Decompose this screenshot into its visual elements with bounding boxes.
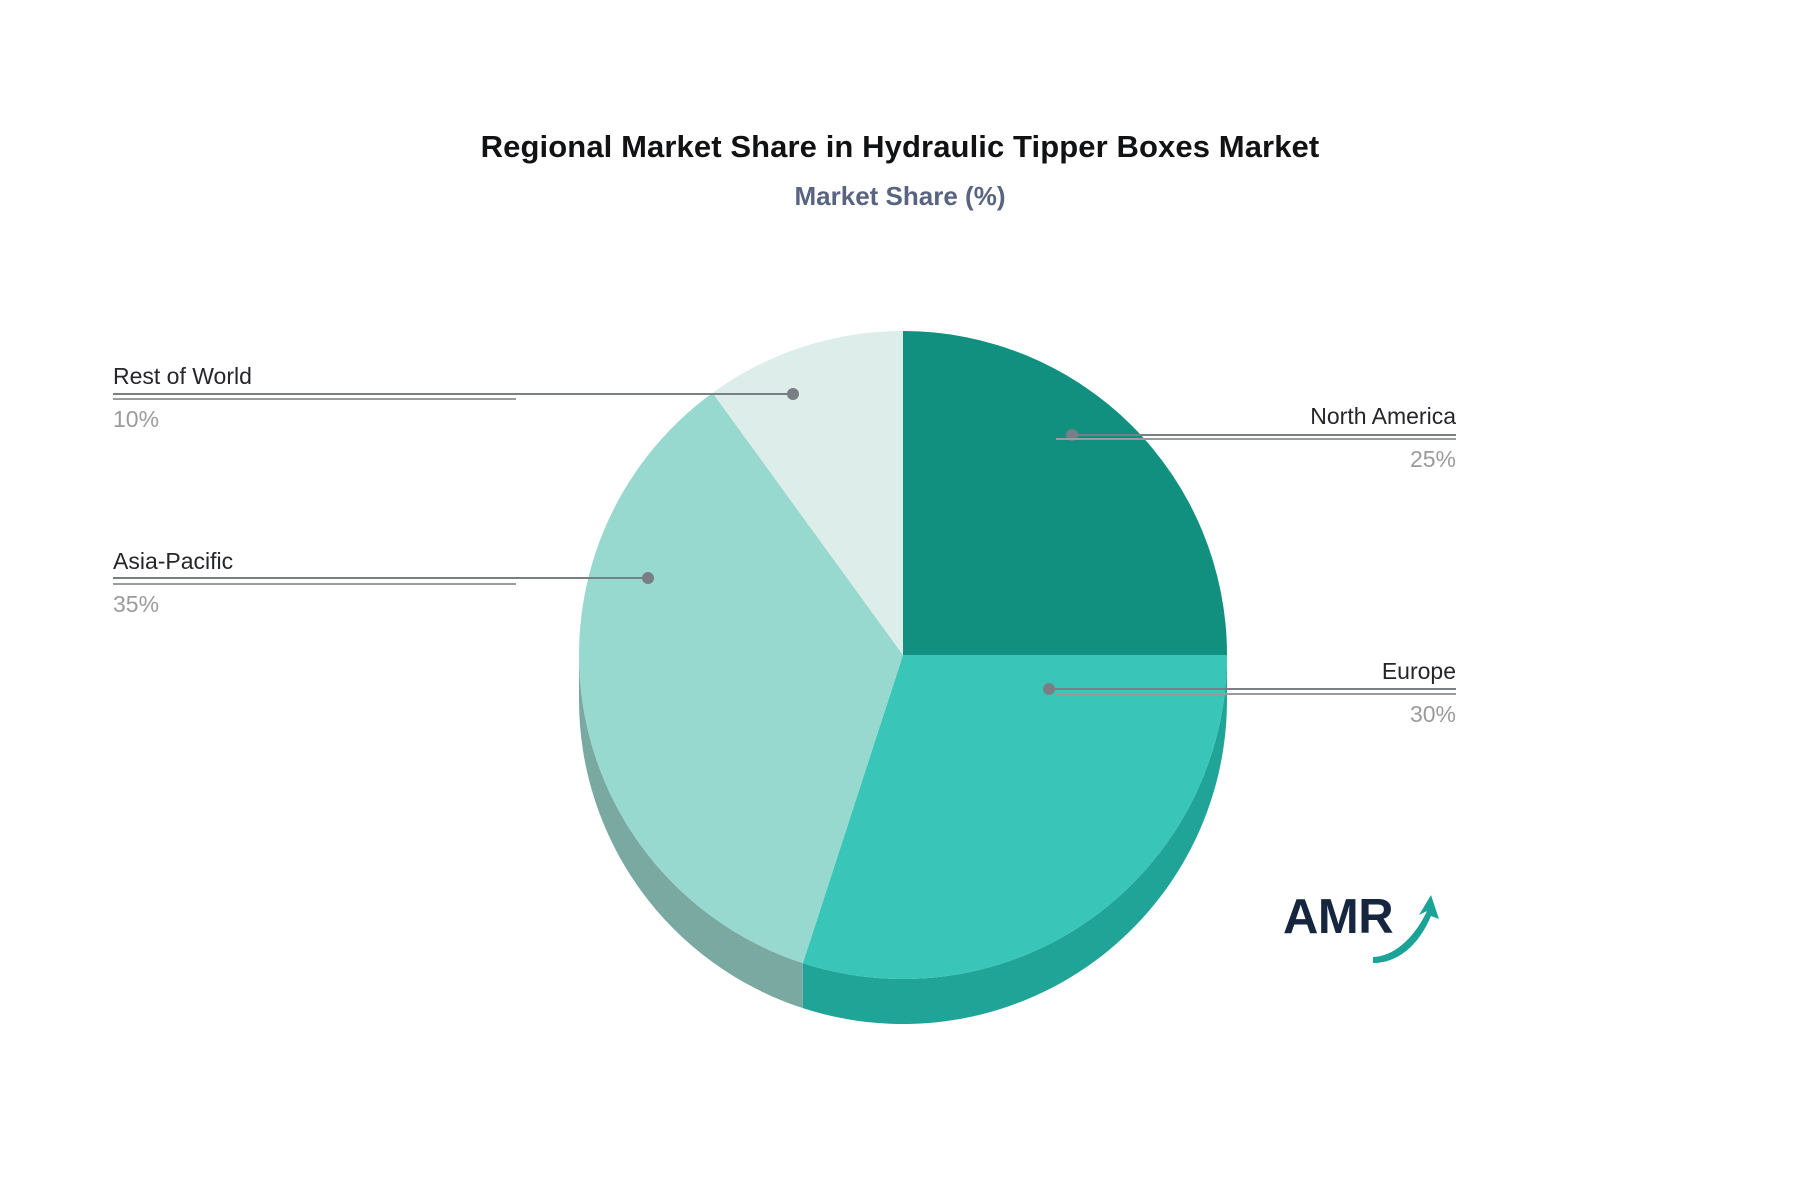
callout-rule-rest-of-world xyxy=(113,398,516,400)
amr-logo: AMR xyxy=(1283,893,1443,963)
callout-label-north-america: North America xyxy=(1056,402,1456,431)
callout-value-north-america: 25% xyxy=(1056,445,1456,474)
pie-slice-north-america[interactable] xyxy=(903,331,1227,655)
growth-arrow-icon xyxy=(1369,891,1445,963)
callout-north-america[interactable]: North America 25% xyxy=(1056,402,1456,474)
callout-label-europe: Europe xyxy=(1056,657,1456,686)
callout-label-rest-of-world: Rest of World xyxy=(113,362,516,391)
leader-dot-europe xyxy=(1043,683,1055,695)
leader-dot-rest-of-world xyxy=(787,388,799,400)
callout-rest-of-world[interactable]: Rest of World 10% xyxy=(113,362,516,434)
callout-label-asia-pacific: Asia-Pacific xyxy=(113,547,516,576)
callout-asia-pacific[interactable]: Asia-Pacific 35% xyxy=(113,547,516,619)
callout-rule-north-america xyxy=(1056,438,1456,440)
callout-europe[interactable]: Europe 30% xyxy=(1056,657,1456,729)
callout-rule-europe xyxy=(1056,693,1456,695)
leader-dot-asia-pacific xyxy=(642,572,654,584)
callout-rule-asia-pacific xyxy=(113,583,516,585)
callout-value-europe: 30% xyxy=(1056,700,1456,729)
callout-value-asia-pacific: 35% xyxy=(113,590,516,619)
callout-value-rest-of-world: 10% xyxy=(113,405,516,434)
